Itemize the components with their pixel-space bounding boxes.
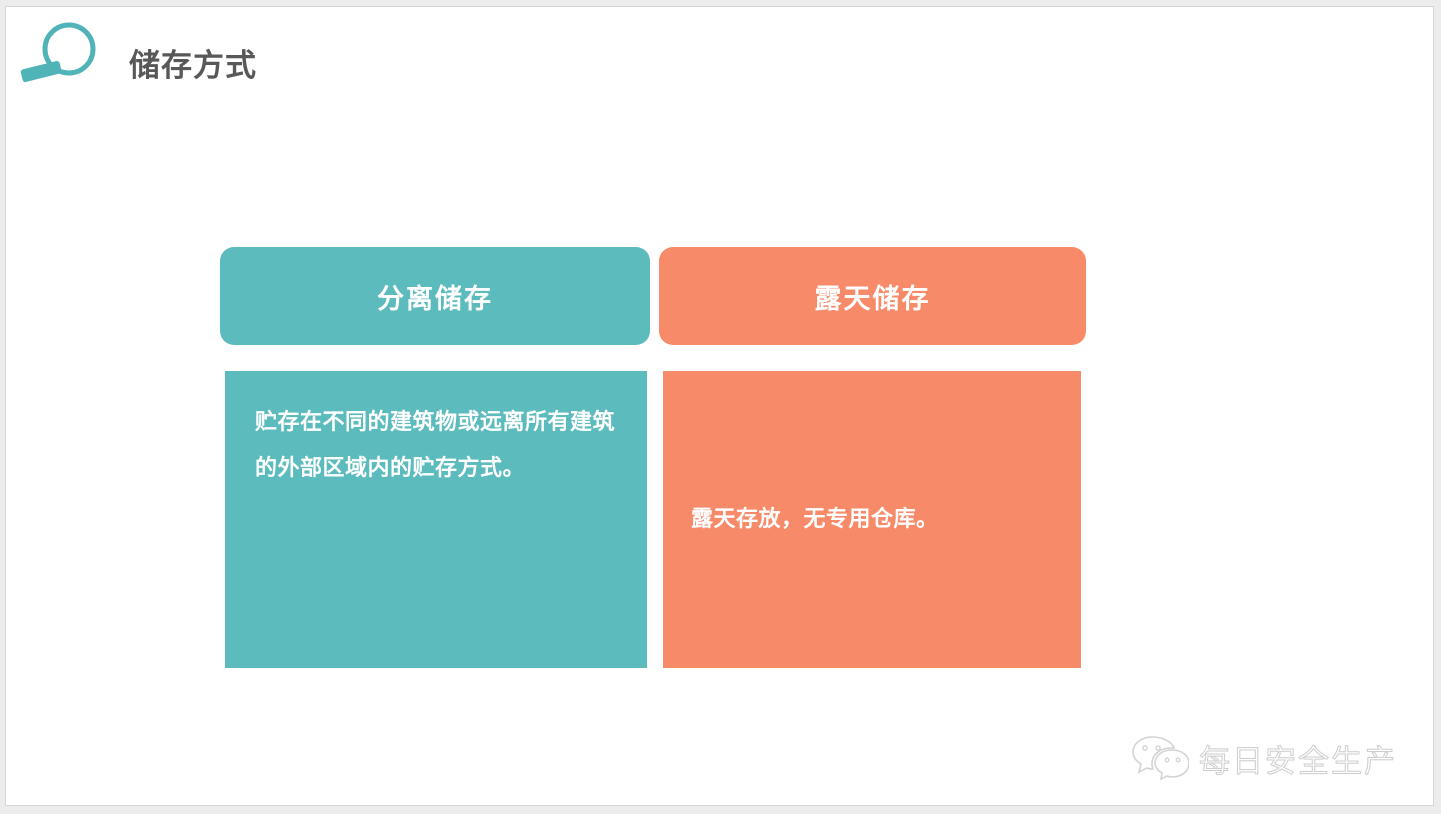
card-heading-separated-storage[interactable]: 分离储存 [220, 247, 650, 345]
card-heading-open-air-storage[interactable]: 露天储存 [659, 247, 1086, 345]
page-title: 储存方式 [129, 40, 257, 85]
column-separated-storage: 分离储存 贮存在不同的建筑物或远离所有建筑的外部区域内的贮存方式。 [220, 247, 650, 668]
magnifier-icon [16, 19, 126, 99]
watermark-label: 每日安全生产 [1199, 736, 1397, 781]
slide-header: 储存方式 [6, 7, 1433, 117]
wechat-icon [1131, 731, 1189, 786]
slide-canvas: 储存方式 分离储存 贮存在不同的建筑物或远离所有建筑的外部区域内的贮存方式。 露… [5, 6, 1434, 806]
watermark: 每日安全生产 [1131, 725, 1431, 791]
card-body-separated-storage: 贮存在不同的建筑物或远离所有建筑的外部区域内的贮存方式。 [225, 371, 647, 668]
column-open-air-storage: 露天储存 露天存放，无专用仓库。 [659, 247, 1086, 668]
card-body-open-air-storage: 露天存放，无专用仓库。 [663, 371, 1081, 668]
